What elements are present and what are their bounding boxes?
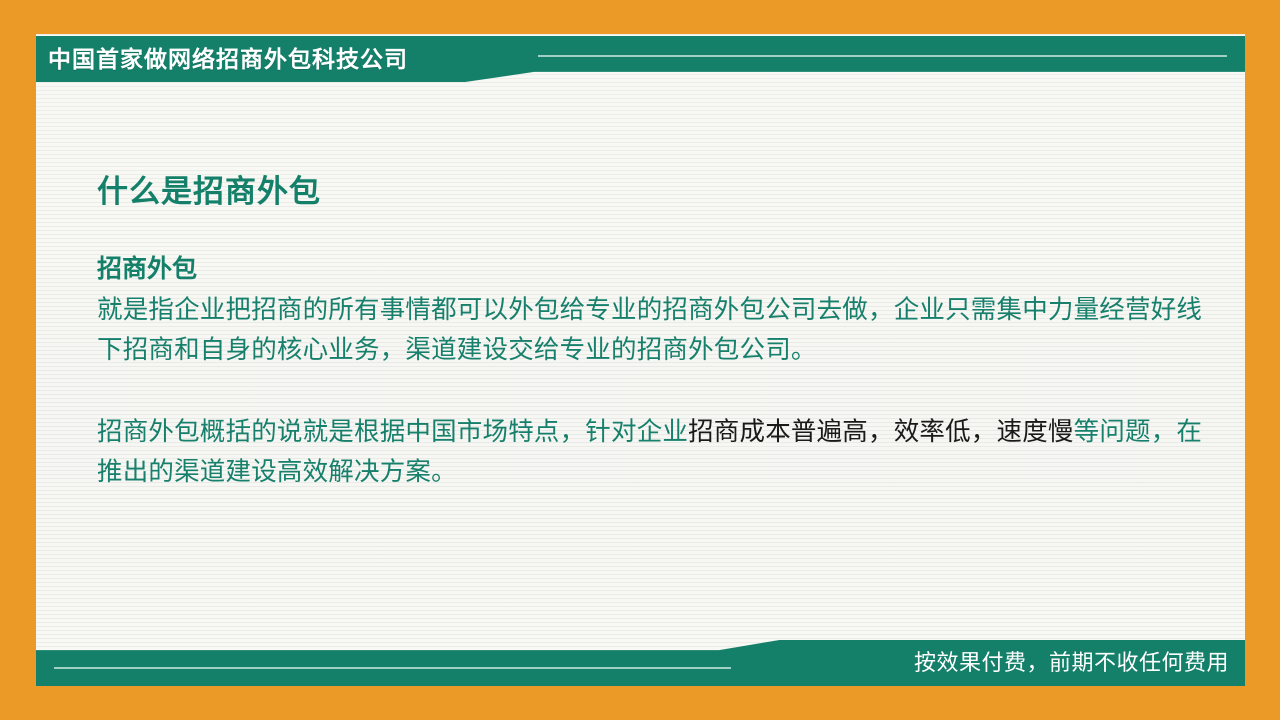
header-bar: 中国首家做网络招商外包科技公司	[36, 36, 1245, 82]
paragraph-summary-highlight: 招商成本普遍高，效率低，速度慢	[688, 418, 1074, 446]
header-title: 中国首家做网络招商外包科技公司	[48, 36, 408, 82]
header-divider-line	[538, 55, 1227, 57]
slide-root: 中国首家做网络招商外包科技公司 什么是招商外包 招商外包 就是指企业把招商的所有…	[0, 0, 1280, 720]
footer-text-container: 按效果付费，前期不收任何费用	[20, 640, 1245, 686]
footer-bar: 按效果付费，前期不收任何费用	[36, 640, 1245, 686]
sub-heading: 招商外包	[97, 252, 1222, 286]
paragraph-definition: 就是指企业把招商的所有事情都可以外包给专业的招商外包公司去做，企业只需集中力量经…	[97, 290, 1222, 370]
paragraph-summary-lead: 招商外包概括的说就是根据中国市场特点，针对企业	[97, 418, 688, 446]
page-title: 什么是招商外包	[97, 170, 1222, 214]
header-title-container: 中国首家做网络招商外包科技公司	[36, 36, 408, 82]
footer-tagline: 按效果付费，前期不收任何费用	[914, 640, 1229, 686]
main-content: 什么是招商外包 招商外包 就是指企业把招商的所有事情都可以外包给专业的招商外包公…	[97, 170, 1222, 492]
paragraph-summary: 招商外包概括的说就是根据中国市场特点，针对企业招商成本普遍高，效率低，速度慢等问…	[97, 412, 1222, 492]
